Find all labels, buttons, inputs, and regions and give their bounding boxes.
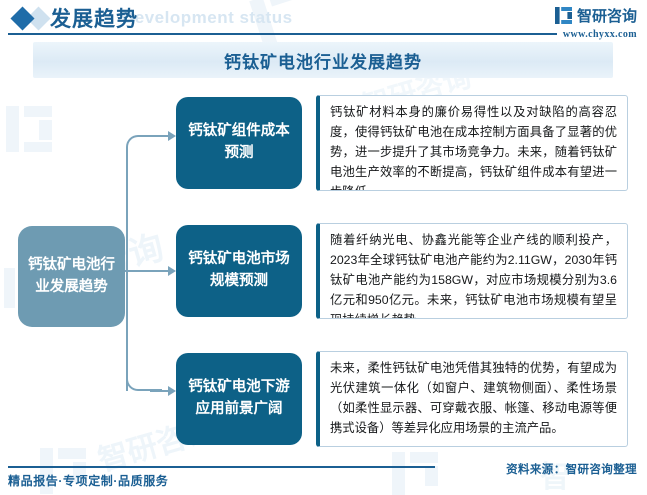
brand-url: www.chyxx.com [555,29,637,40]
branch-panel-downstream-applications: 未来，柔性钙钛矿电池凭借其独特的优势，有望成为光伏建筑一体化（如窗户、建筑物侧面… [316,351,628,447]
mindmap-root-node[interactable]: 钙钛矿电池行业发展趋势 [18,226,125,327]
branch-label-cost-forecast[interactable]: 钙钛矿组件成本预测 [176,97,302,189]
watermark-logo-bottom-right [392,452,438,495]
branch-label-downstream-applications[interactable]: 钙钛矿电池下游应用前景广阔 [176,353,302,445]
branch-label-text: 钙钛矿组件成本预测 [182,121,296,165]
connector-arrow-3 [168,386,176,396]
branch-panel-market-size: 随着纤纳光电、协鑫光能等企业产线的顺利投产，2023年全球钙钛矿电池产能约为2.… [316,223,628,319]
connector-arrow-1 [168,131,176,141]
diamond-icon [10,6,34,30]
page-header: Development status 发展趋势 智研咨询 www.chyxx.c… [0,0,647,40]
connector-arm-2 [124,270,170,272]
header-subtitle-watermark: Development status [122,8,293,28]
brand-block: 智研咨询 www.chyxx.com [555,5,637,40]
branch-panel-text: 未来，柔性钙钛矿电池凭借其独特的优势，有望成为光伏建筑一体化（如窗户、建筑物侧面… [330,361,617,435]
branch-panel-text: 随着纤纳光电、协鑫光能等企业产线的顺利投产，2023年全球钙钛矿电池产能约为2.… [330,233,617,319]
chyxx-logo-icon [555,7,572,24]
footer-divider [8,466,435,468]
branch-panel-cost-forecast: 钙钛矿材料本身的廉价易得性以及对缺陷的高容忍度，使得钙钛矿电池在成本控制方面具备… [316,95,628,191]
mindmap-root-label: 钙钛矿电池行业发展趋势 [28,255,115,297]
chart-title: 钙钛矿电池行业发展趋势 [224,48,422,73]
branch-label-text: 钙钛矿电池市场规模预测 [182,249,296,293]
page-title: 发展趋势 [50,3,138,33]
connector-arm-3 [150,390,170,392]
header-divider [8,33,557,35]
connector-arrow-2 [168,266,176,276]
connector-elbow-top [126,135,162,165]
branch-label-market-size[interactable]: 钙钛矿电池市场规模预测 [176,225,302,317]
footer-slogan: 精品报告·专项定制·品质服务 [8,472,168,489]
mindmap-diagram: 钙钛矿电池行业发展趋势 钙钛矿组件成本预测 钙钛矿材料本身的廉价易得性以及对缺陷… [0,85,647,455]
connector-arm-1 [150,135,170,137]
branch-label-text: 钙钛矿电池下游应用前景广阔 [182,377,296,421]
slide-page: 智询 智研咨询 智研咨询 智 Development status 发展趋势 [0,0,647,495]
brand-name: 智研咨询 [577,5,637,26]
footer-source: 资料来源：智研咨询整理 [506,461,637,477]
connector-trunk-vertical [126,163,128,391]
connector-elbow-bottom [126,361,162,391]
branch-panel-text: 钙钛矿材料本身的廉价易得性以及对缺陷的高容忍度，使得钙钛矿电池在成本控制方面具备… [330,105,617,191]
chart-title-band: 钙钛矿电池行业发展趋势 [33,42,613,78]
